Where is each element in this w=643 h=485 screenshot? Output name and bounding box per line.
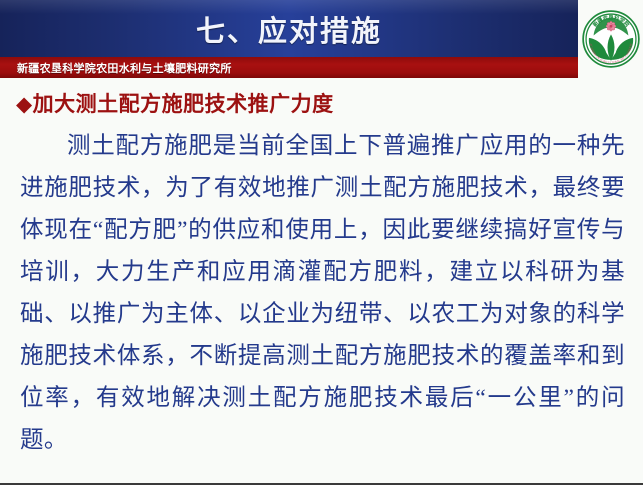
organization-name: 新疆农垦科学院农田水利与土壤肥料研究所 [17,57,232,78]
slide-body: ◆加大测土配方施肥技术推广力度 测土配方施肥是当前全国上下普遍推广应用的一种先进… [0,78,643,483]
section-heading: ◆加大测土配方施肥技术推广力度 [16,88,629,118]
diamond-bullet-icon: ◆ [16,92,33,116]
slide-title: 七、应对措施 [0,0,578,57]
logo-container: 新疆农垦科学院 XINJIANG ACADEMY OF AGRICULTURAL… [578,0,643,78]
section-heading-text: 加大测土配方施肥技术推广力度 [33,92,334,116]
presentation-slide: 七、应对措施 新疆农垦科学院农田水利与土壤肥料研究所 新疆农垦科学院 [0,0,643,485]
body-paragraph: 测土配方施肥是当前全国上下普遍推广应用的一种先进施肥技术，为了有效地推广测土配方… [14,125,629,461]
institute-seal-icon: 新疆农垦科学院 XINJIANG ACADEMY OF AGRICULTURAL… [582,10,640,68]
